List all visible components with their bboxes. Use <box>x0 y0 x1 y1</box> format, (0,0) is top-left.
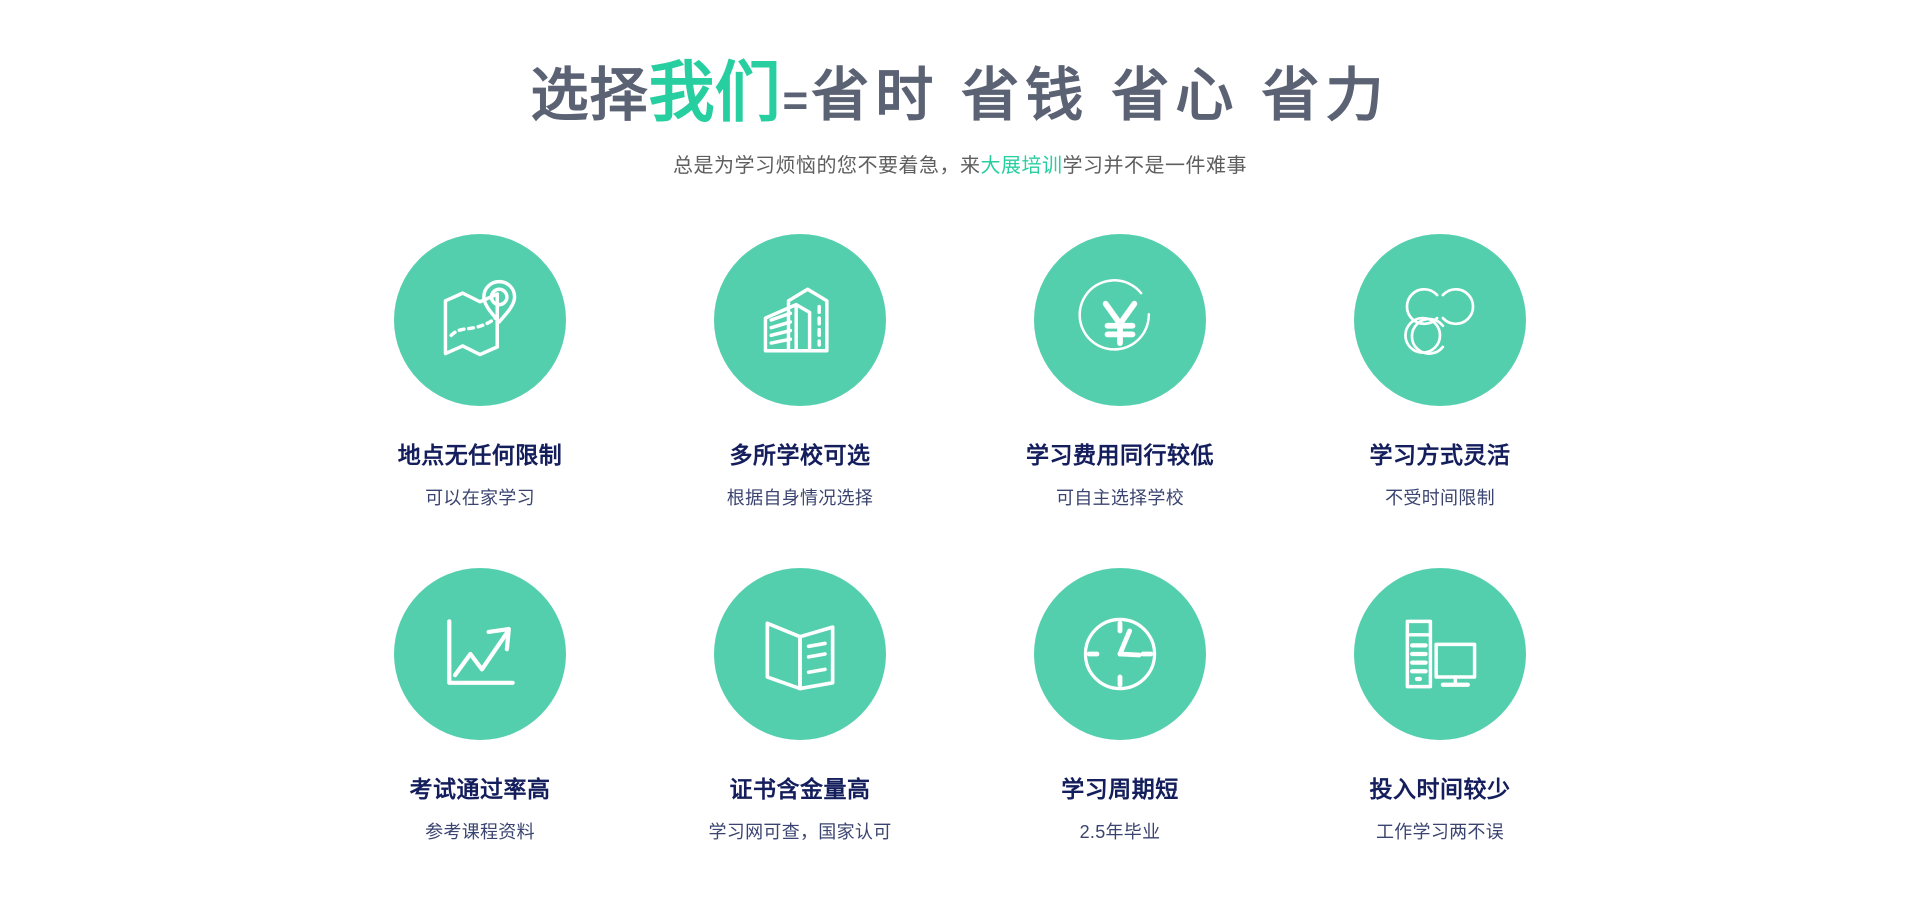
feature-title: 多所学校可选 <box>730 436 871 470</box>
feature-subtitle: 根据自身情况选择 <box>727 484 873 510</box>
subtitle-brand: 大展培训 <box>981 155 1063 177</box>
feature-title: 学习周期短 <box>1061 770 1179 804</box>
feature-title: 证书含金量高 <box>730 770 871 804</box>
feature-title: 考试通过率高 <box>410 770 551 804</box>
school-buildings-icon <box>752 272 848 368</box>
page-title: 选择我们=省时 省钱 省心 省力 <box>0 58 1920 127</box>
feature-item: 证书含金量高 学习网可查，国家认可 <box>650 568 950 844</box>
desktop-computer-icon <box>1392 606 1488 702</box>
feature-subtitle: 工作学习两不误 <box>1376 818 1504 844</box>
feature-icon-badge <box>714 234 886 406</box>
headline-equals: = <box>780 76 811 125</box>
page-subtitle: 总是为学习烦恼的您不要着急，来大展培训学习并不是一件难事 <box>0 149 1920 178</box>
feature-icon-badge <box>394 568 566 740</box>
feature-icon-badge <box>1034 234 1206 406</box>
feature-subtitle: 可以在家学习 <box>425 484 535 510</box>
feature-subtitle: 可自主选择学校 <box>1056 484 1184 510</box>
feature-subtitle: 学习网可查，国家认可 <box>709 818 892 844</box>
headline-plain: 选择 <box>530 63 648 128</box>
feature-icon-badge <box>1354 234 1526 406</box>
feature-icon-badge <box>714 568 886 740</box>
feature-item: 学习方式灵活 不受时间限制 <box>1290 234 1590 510</box>
subtitle-before: 总是为学习烦恼的您不要着急，来 <box>673 155 981 177</box>
four-circles-icon <box>1392 272 1488 368</box>
headline-accent: 我们 <box>648 55 780 129</box>
growth-chart-icon <box>432 606 528 702</box>
feature-title: 学习费用同行较低 <box>1026 436 1214 470</box>
clock-icon <box>1072 606 1168 702</box>
feature-title: 地点无任何限制 <box>398 436 563 470</box>
open-book-icon <box>752 606 848 702</box>
header-block: 选择我们=省时 省钱 省心 省力 总是为学习烦恼的您不要着急，来大展培训学习并不… <box>0 0 1920 178</box>
feature-item: 多所学校可选 根据自身情况选择 <box>650 234 950 510</box>
feature-item: 地点无任何限制 可以在家学习 <box>330 234 630 510</box>
feature-item: 学习周期短 2.5年毕业 <box>970 568 1270 844</box>
feature-subtitle: 参考课程资料 <box>425 818 535 844</box>
map-pin-route-icon <box>432 272 528 368</box>
feature-subtitle: 2.5年毕业 <box>1080 818 1161 844</box>
features-grid: 地点无任何限制 可以在家学习 <box>320 178 1600 844</box>
feature-item: 投入时间较少 工作学习两不误 <box>1290 568 1590 844</box>
feature-icon-badge <box>1354 568 1526 740</box>
marketing-features-page: 选择我们=省时 省钱 省心 省力 总是为学习烦恼的您不要着急，来大展培训学习并不… <box>0 0 1920 912</box>
feature-title: 投入时间较少 <box>1370 770 1511 804</box>
feature-item: 考试通过率高 参考课程资料 <box>330 568 630 844</box>
feature-title: 学习方式灵活 <box>1370 436 1511 470</box>
feature-icon-badge <box>394 234 566 406</box>
yuan-coin-icon <box>1072 272 1168 368</box>
feature-subtitle: 不受时间限制 <box>1385 484 1495 510</box>
feature-item: 学习费用同行较低 可自主选择学校 <box>970 234 1270 510</box>
subtitle-after: 学习并不是一件难事 <box>1063 155 1248 177</box>
headline-tail: 省时 省钱 省心 省力 <box>811 63 1389 128</box>
feature-icon-badge <box>1034 568 1206 740</box>
